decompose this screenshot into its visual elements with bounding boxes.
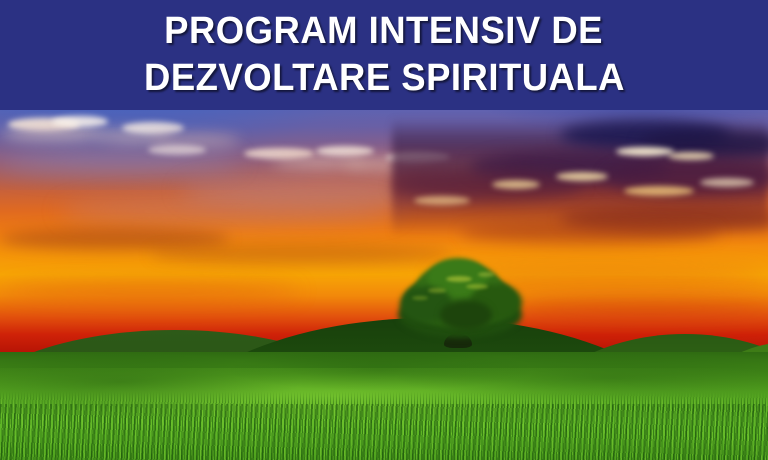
poster: PROGRAM INTENSIV DE DEZVOLTARE SPIRITUAL… [0,0,768,460]
tree-canopy-highlight [466,284,488,289]
title-banner: PROGRAM INTENSIV DE DEZVOLTARE SPIRITUAL… [0,0,768,110]
tree-canopy [440,300,492,330]
tree-canopy-highlight [428,288,446,293]
tree-canopy-highlight [412,296,428,300]
title-line-1: PROGRAM INTENSIV DE [165,8,604,55]
tree-canopy-highlight [478,272,494,277]
title-line-2: DEZVOLTARE SPIRITUALA [144,55,625,102]
tree-canopy-highlight [446,276,472,282]
